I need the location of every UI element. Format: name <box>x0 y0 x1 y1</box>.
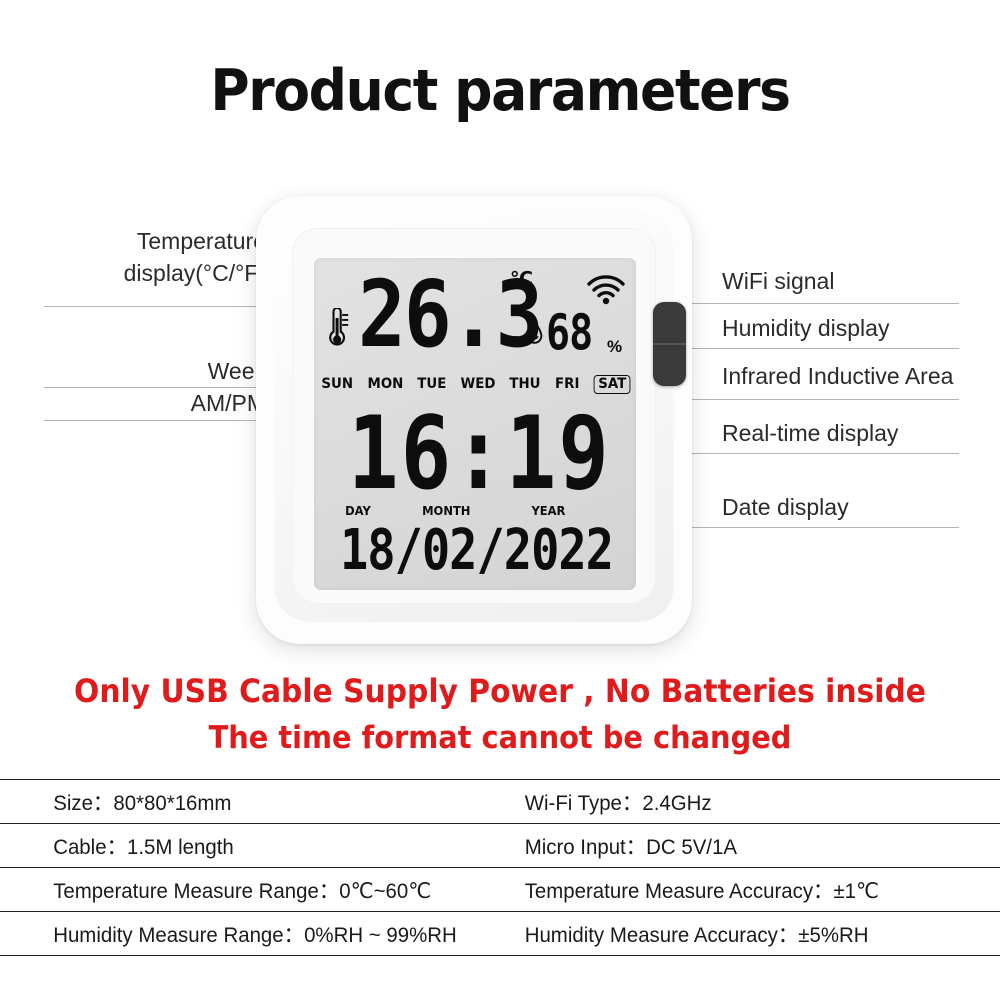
callout-temperature-display-line1: Temperature <box>56 228 266 255</box>
weekday-mon: MON <box>367 376 403 392</box>
table-row: Size：80*80*16mm Wi-Fi Type：2.4GHz <box>0 780 1000 824</box>
temperature-unit: ℃ <box>510 270 532 289</box>
weekday-sun: SUN <box>321 376 353 392</box>
weekday-wed: WED <box>461 376 496 392</box>
lcd-temp-humidity-row: 26.3 ℃ 68 % <box>314 264 636 360</box>
time-value: 16:19 <box>348 398 611 508</box>
weekday-fri: FRI <box>555 376 579 392</box>
page-title: Product parameters <box>30 58 970 124</box>
callout-am-pm: AM/PM <box>66 390 266 417</box>
table-row: Temperature Measure Range：0℃~60℃ Tempera… <box>0 868 1000 912</box>
callout-week: Week <box>66 358 266 385</box>
spec-humidity-accuracy: Humidity Measure Accuracy：±5%RH <box>500 918 975 949</box>
lcd-screen: 26.3 ℃ 68 % <box>314 258 636 590</box>
water-drop-icon <box>526 320 543 349</box>
spec-table: Size：80*80*16mm Wi-Fi Type：2.4GHz Cable：… <box>0 779 1000 956</box>
lcd-time-row: 16:19 <box>314 398 636 502</box>
date-value: 18/02/2022 <box>340 520 613 582</box>
weekday-row: SUN MON TUE WED THU FRI SAT <box>320 374 632 394</box>
humidity-value: 68 <box>546 308 592 359</box>
callout-date-display: Date display <box>722 494 849 521</box>
spec-cable: Cable：1.5M length <box>0 830 475 861</box>
spec-size: Size：80*80*16mm <box>0 786 475 817</box>
weekday-sat-active: SAT <box>593 375 630 394</box>
spec-humidity-range: Humidity Measure Range：0%RH ~ 99%RH <box>0 918 475 949</box>
leader-line-infrared <box>674 399 959 400</box>
callout-humidity-display: Humidity display <box>722 315 889 342</box>
notice-line-2: The time format cannot be changed <box>35 720 965 756</box>
date-caption-row: DAY MONTH YEAR <box>344 503 614 519</box>
device-photo: 26.3 ℃ 68 % <box>248 188 700 650</box>
infrared-sensor-window <box>653 302 686 386</box>
spec-temp-range: Temperature Measure Range：0℃~60℃ <box>0 874 475 905</box>
callout-real-time-display: Real-time display <box>722 420 898 447</box>
callout-wifi-signal: WiFi signal <box>722 268 834 295</box>
date-label-day: DAY <box>345 503 371 518</box>
wifi-signal-icon <box>586 274 626 310</box>
callout-infrared-inductive-area: Infrared Inductive Area <box>722 363 953 390</box>
spec-micro-input: Micro Input：DC 5V/1A <box>500 830 975 861</box>
spec-wifi-type: Wi-Fi Type：2.4GHz <box>500 786 975 817</box>
weekday-thu: THU <box>510 376 541 392</box>
date-label-year: YEAR <box>531 503 565 518</box>
product-parameters-infographic: Product parameters Temperature display(°… <box>0 0 1000 1000</box>
thermometer-icon <box>324 308 350 355</box>
callout-temperature-display-line2: display(°C/°F) <box>46 260 266 287</box>
weekday-tue: TUE <box>417 376 446 392</box>
table-row: Humidity Measure Range：0%RH ~ 99%RH Humi… <box>0 912 1000 956</box>
spec-temp-accuracy: Temperature Measure Accuracy：±1℃ <box>500 874 975 905</box>
ir-window-seam <box>653 343 686 345</box>
date-label-month: MONTH <box>422 503 470 518</box>
notice-line-1: Only USB Cable Supply Power , No Batteri… <box>35 672 965 710</box>
table-row: Cable：1.5M length Micro Input：DC 5V/1A <box>0 824 1000 868</box>
humidity-unit: % <box>607 338 622 355</box>
